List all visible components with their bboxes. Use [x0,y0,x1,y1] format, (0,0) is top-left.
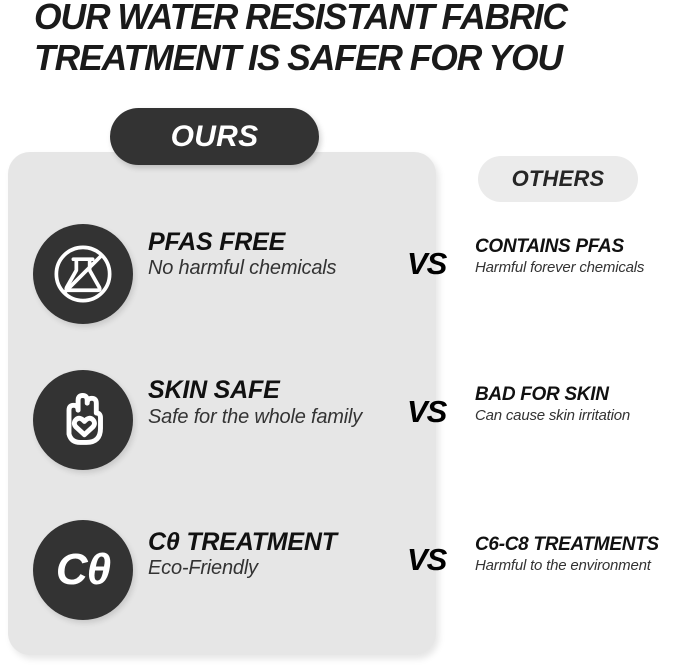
vs-label: VS [407,544,446,575]
ours-item-subtitle: Safe for the whole family [148,405,400,429]
comparison-row: Cθ Cθ TREATMENT Eco-Friendly VS C6-C8 TR… [0,518,679,628]
page-title-line-2: TREATMENT IS SAFER FOR YOU [34,37,645,78]
comparison-row: PFAS FREE No harmful chemicals VS CONTAI… [0,222,679,332]
ours-item-text: PFAS FREE No harmful chemicals [148,228,400,280]
badge-ours: OURS [110,108,319,165]
page-title: OUR WATER RESISTANT FABRIC TREATMENT IS … [34,0,645,78]
others-item-text: BAD FOR SKIN Can cause skin irritation [475,384,679,425]
others-item-subtitle: Harmful to the environment [475,557,679,575]
badge-others: OTHERS [478,156,638,202]
vs-label: VS [407,396,446,427]
vs-label: VS [407,248,446,279]
c-zero-icon-label: Cθ [56,548,110,592]
no-chemicals-flask-icon [33,224,133,324]
ours-item-text: Cθ TREATMENT Eco-Friendly [148,528,400,580]
others-item-subtitle: Harmful forever chemicals [475,259,679,277]
comparison-row: SKIN SAFE Safe for the whole family VS B… [0,368,679,478]
c-zero-icon: Cθ [33,520,133,620]
others-item-title: BAD FOR SKIN [475,384,679,406]
ours-item-subtitle: No harmful chemicals [148,257,400,280]
others-item-subtitle: Can cause skin irritation [475,407,679,425]
ours-item-title: SKIN SAFE [148,376,400,404]
page-title-line-1: OUR WATER RESISTANT FABRIC [34,0,645,37]
others-item-title: CONTAINS PFAS [475,236,679,258]
others-item-text: C6-C8 TREATMENTS Harmful to the environm… [475,534,679,575]
ours-item-title: Cθ TREATMENT [148,528,400,556]
ours-item-text: SKIN SAFE Safe for the whole family [148,376,400,429]
ours-item-title: PFAS FREE [148,228,400,256]
others-item-title: C6-C8 TREATMENTS [475,534,679,556]
others-item-text: CONTAINS PFAS Harmful forever chemicals [475,236,679,277]
ours-item-subtitle: Eco-Friendly [148,557,400,580]
hand-heart-icon [33,370,133,470]
